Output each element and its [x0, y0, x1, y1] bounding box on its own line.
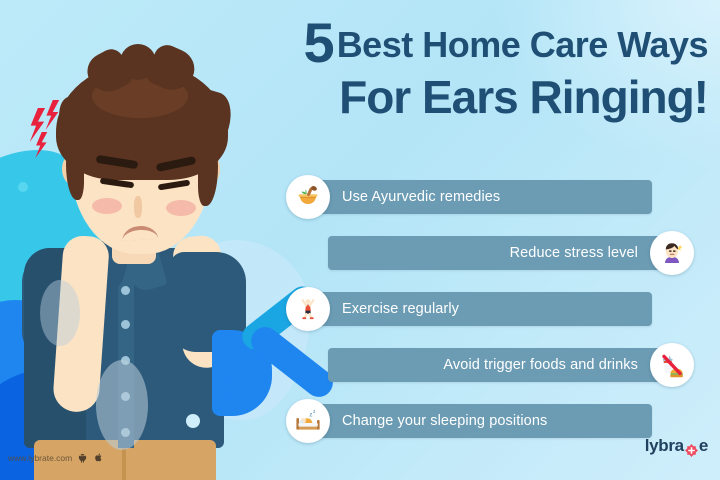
svg-text:z: z: [309, 412, 312, 418]
lybrate-cross-icon: [685, 442, 698, 455]
shirt-button: [121, 320, 130, 329]
hair-spike: [120, 44, 156, 80]
herbal-mortar-icon: [286, 175, 330, 219]
sleeping-bed-icon: z z: [286, 399, 330, 443]
apple-icon: [93, 452, 104, 463]
lybrate-logo[interactable]: lybra e: [645, 436, 708, 456]
android-icon: [77, 452, 88, 463]
no-junk-food-icon: [650, 343, 694, 387]
watermark: www.lybrate.com: [8, 452, 104, 463]
title-number: 5: [304, 11, 333, 74]
arm-highlight: [96, 360, 148, 450]
ringing-bolt-icon: [34, 132, 48, 158]
exercise-person-icon: [286, 287, 330, 331]
infographic-poster: 5Best Home Care Ways For Ears Ringing! U…: [0, 0, 720, 480]
page-title: 5Best Home Care Ways For Ears Ringing!: [276, 14, 708, 122]
hand-left: [52, 168, 104, 248]
stressed-person-icon: [650, 231, 694, 275]
tip-label: Use Ayurvedic remedies: [302, 180, 652, 214]
character-illustration: [0, 0, 300, 480]
list-item[interactable]: z z Change your sleeping positions: [286, 400, 694, 442]
tip-label: Reduce stress level: [328, 236, 678, 270]
hand-right: [180, 168, 232, 248]
nose: [134, 196, 142, 218]
tip-label: Avoid trigger foods and drinks: [328, 348, 678, 382]
list-item[interactable]: Reduce stress level: [286, 232, 694, 274]
list-item[interactable]: Use Ayurvedic remedies: [286, 176, 694, 218]
tip-label: Exercise regularly: [302, 292, 652, 326]
watermark-url: www.lybrate.com: [8, 453, 72, 463]
title-line-1: 5Best Home Care Ways: [276, 14, 708, 72]
title-line-2: For Ears Ringing!: [276, 74, 708, 122]
tip-label: Change your sleeping positions: [302, 404, 652, 438]
list-item[interactable]: Exercise regularly: [286, 288, 694, 330]
tips-list: Use Ayurvedic remedies Reduce stress lev…: [286, 176, 694, 456]
list-item[interactable]: Avoid trigger foods and drinks: [286, 344, 694, 386]
decor-dot: [218, 378, 236, 396]
logo-text-pre: lybra: [645, 436, 684, 456]
sleeve-highlight: [40, 280, 80, 346]
title-line-1-text: Best Home Care Ways: [337, 24, 708, 65]
decor-dot: [186, 414, 200, 428]
shirt-button: [121, 286, 130, 295]
logo-text-post: e: [699, 436, 708, 456]
svg-text:z: z: [313, 409, 316, 415]
